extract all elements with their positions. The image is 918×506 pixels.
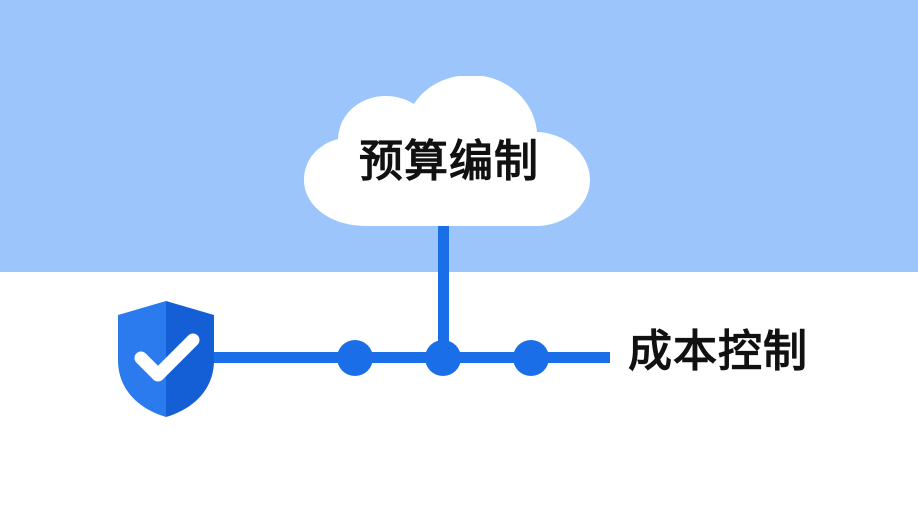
diagram-canvas: 预算编制 成本控制: [0, 0, 918, 506]
right-node-label: 成本控制: [628, 330, 808, 374]
node-dot-3[interactable]: [513, 340, 549, 376]
node-dot-2[interactable]: [425, 340, 461, 376]
cloud-node-label: 预算编制: [298, 76, 600, 232]
cloud-node[interactable]: 预算编制: [298, 76, 600, 232]
node-dot-1[interactable]: [337, 340, 373, 376]
shield-node[interactable]: [113, 298, 219, 420]
shield-check-icon: [113, 298, 219, 420]
